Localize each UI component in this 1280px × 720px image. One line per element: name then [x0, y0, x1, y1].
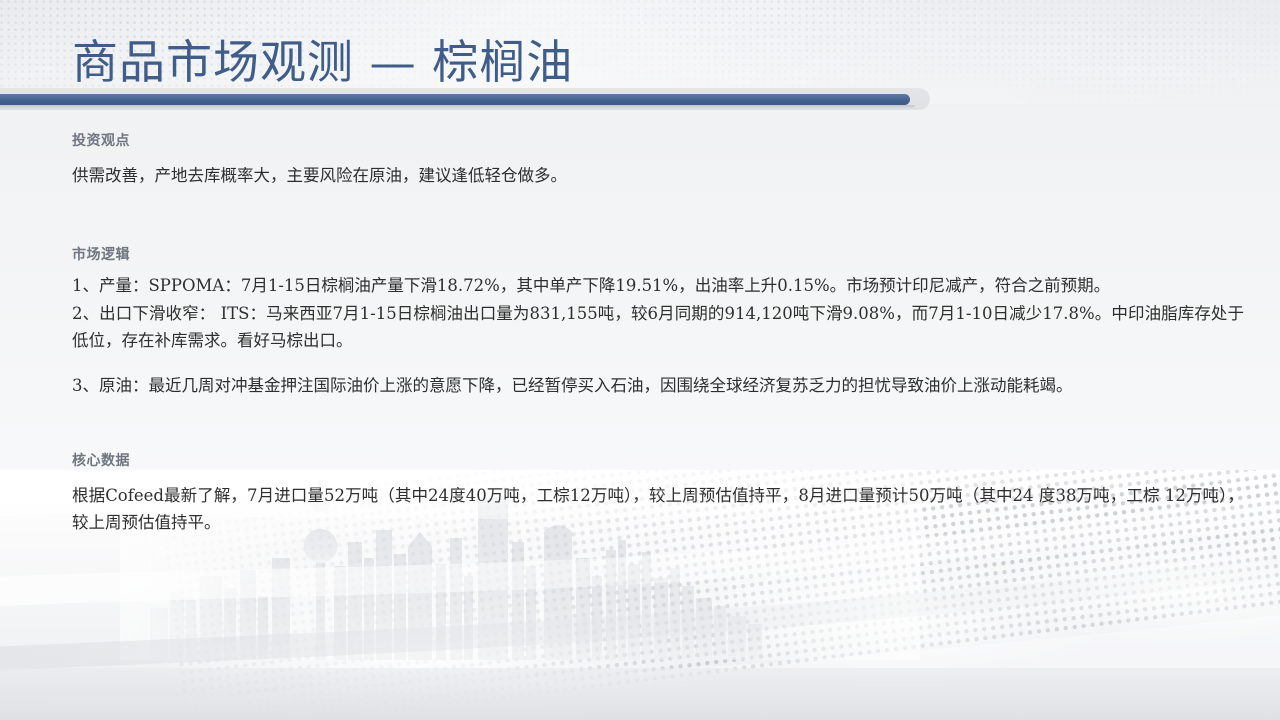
section-body-core-data: 根据Cofeed最新了解，7月进口量52万吨（其中24度40万吨，工棕12万吨）…	[72, 482, 1244, 536]
section-heading-investment-opinion: 投资观点	[72, 130, 130, 150]
section-body-investment-opinion: 供需改善，产地去库概率大，主要风险在原油，建议逢低轻仓做多。	[72, 162, 1244, 189]
market-logic-bullet-3: 3、原油：最近几周对冲基金押注国际油价上涨的意愿下降，已经暂停买入石油，因围绕全…	[72, 372, 1244, 399]
slide-root: 商品市场观测 — 棕榈油 投资观点 供需改善，产地去库概率大，主要风险在原油，建…	[0, 0, 1280, 720]
section-heading-market-logic: 市场逻辑	[72, 244, 130, 264]
section-heading-core-data: 核心数据	[72, 450, 130, 470]
slide-content: 投资观点 供需改善，产地去库概率大，主要风险在原油，建议逢低轻仓做多。 市场逻辑…	[0, 104, 1280, 720]
market-logic-bullet-1: 1、产量：SPPOMA：7月1-15日棕榈油产量下滑18.72%，其中单产下降1…	[72, 272, 1244, 299]
market-logic-bullet-2: 2、出口下滑收窄： ITS：马来西亚7月1-15日棕榈油出口量为831,155吨…	[72, 300, 1244, 354]
page-title: 商品市场观测 — 棕榈油	[72, 34, 573, 90]
